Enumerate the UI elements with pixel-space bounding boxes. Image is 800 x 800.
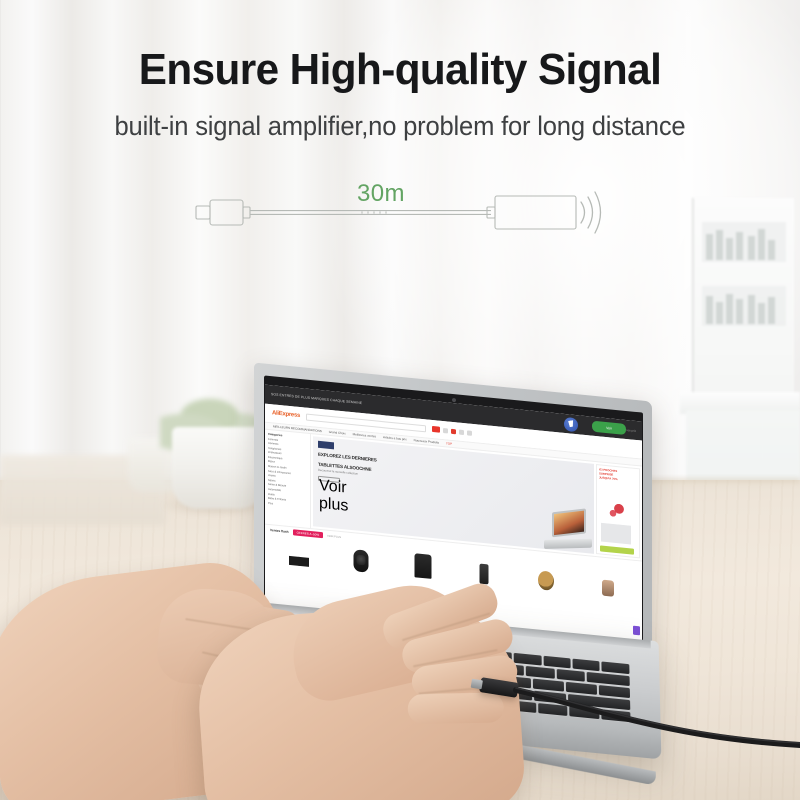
cable-distance-diagram: 30m [195, 182, 605, 248]
signal-wave-icon [581, 192, 601, 233]
deals-label: Ventes flash [270, 528, 289, 534]
usb-male-connector-icon [196, 200, 250, 225]
category-sidebar[interactable]: Categories Femmes Hommes Telephones Ordi… [265, 430, 311, 529]
accessory-image [602, 580, 614, 597]
wishlist-icon [467, 430, 472, 435]
cable-tick-marks [362, 211, 386, 213]
header-icon-group[interactable] [432, 426, 472, 436]
smartphone-image [480, 564, 489, 585]
product-card-0[interactable] [270, 537, 329, 569]
promo-image [601, 500, 631, 545]
gold-watch-image [538, 570, 554, 591]
site-logo[interactable]: AliExpress [272, 410, 300, 419]
smart-band-image [354, 549, 369, 572]
right-little-finger [408, 692, 505, 724]
hero-brand-logo [318, 441, 334, 450]
cable-line [250, 211, 491, 215]
hero-cta-button[interactable]: Voir plus [318, 476, 340, 483]
promo-panel[interactable]: ICI PROCHES SURPRISE JUSQU'A 70% [596, 464, 640, 558]
deals-more-link[interactable]: VOIR PLUS [327, 534, 341, 538]
flag-icon [443, 428, 448, 433]
nav-item-2[interactable]: Meilleures ventes [353, 432, 376, 438]
sunglasses-image [289, 556, 309, 567]
product-card-4[interactable] [517, 561, 576, 593]
page-subtitle: built-in signal amplifier,no problem for… [14, 110, 786, 142]
banner-cta-button[interactable]: Voir [592, 421, 626, 435]
product-card-2[interactable] [393, 549, 452, 581]
page-title: Ensure High-quality Signal [16, 44, 784, 96]
signal-amplifier-box-icon [487, 196, 576, 229]
distance-label: 30m [326, 180, 436, 208]
nav-item-1[interactable]: Grand Choix [329, 430, 346, 436]
promo-footer-bar [600, 545, 634, 554]
nav-item-5[interactable]: TOP [446, 441, 452, 446]
cart-icon [432, 426, 440, 433]
product-card-1[interactable] [332, 543, 391, 575]
shelf-row-top [702, 222, 786, 262]
jacket-image [414, 553, 431, 579]
product-card-3[interactable] [455, 555, 514, 587]
alert-icon [451, 428, 456, 433]
floating-side-tab[interactable] [633, 626, 640, 636]
mouse-cursor-icon [564, 417, 578, 432]
product-card-5[interactable] [578, 567, 637, 599]
product-marketing-scene: SOS ENTRES DE PLUS MARQUES CHAQUE SEMAIN… [0, 0, 800, 800]
shelf-row-bottom [702, 286, 786, 326]
banner-text: SOS ENTRES DE PLUS MARQUES CHAQUE SEMAIN… [271, 393, 362, 406]
headline-block: Ensure High-quality Signal built-in sign… [0, 44, 800, 142]
hero-product-image [542, 508, 592, 553]
webcam-icon [452, 398, 456, 402]
account-icon [459, 429, 464, 434]
